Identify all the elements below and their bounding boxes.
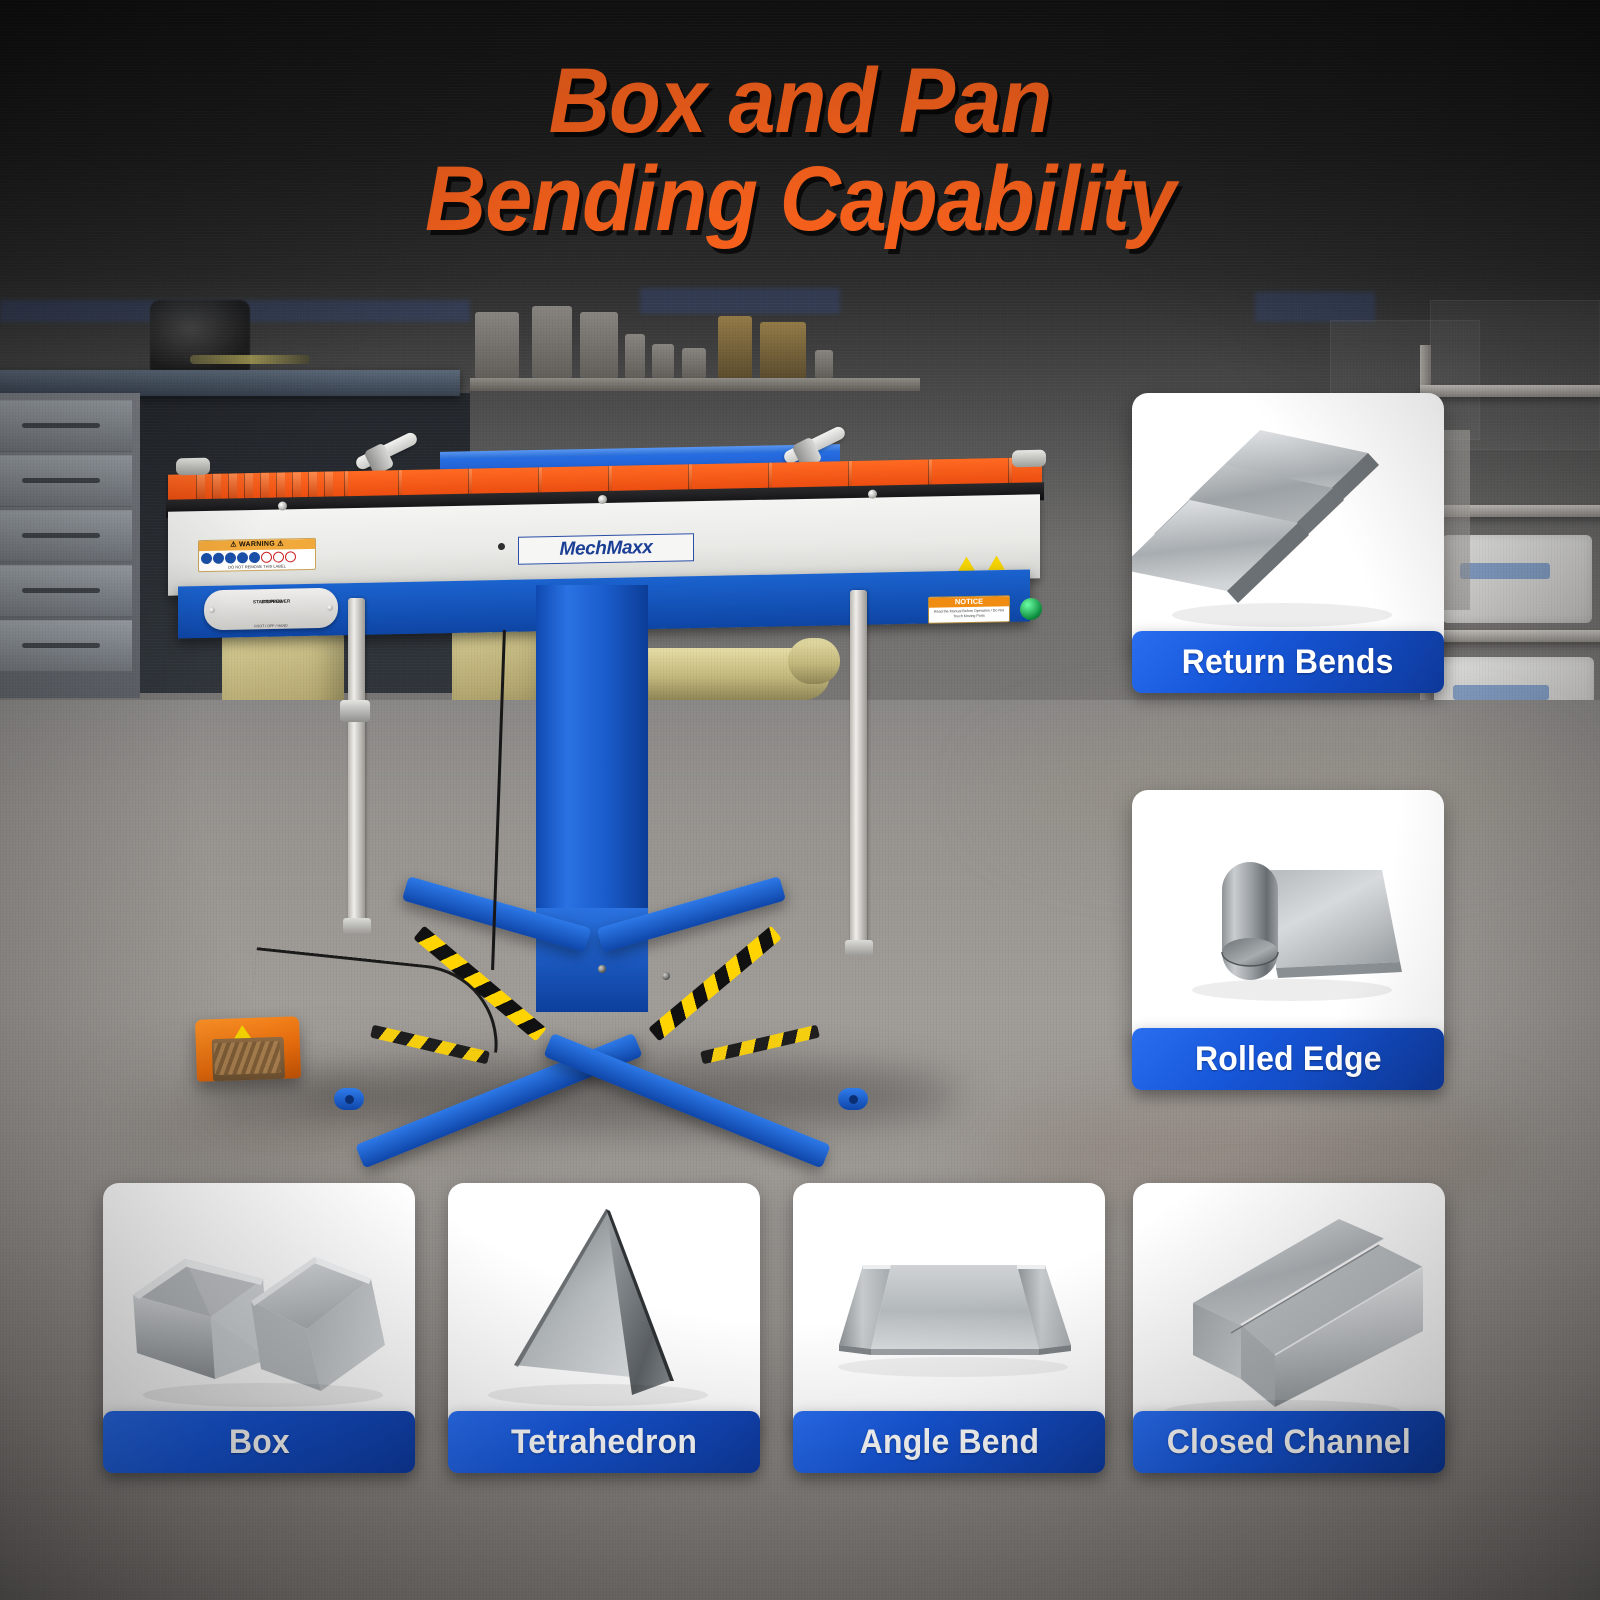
control-panel-footer: FOOT / OFF / HAND (254, 624, 287, 629)
closed-channel-label[interactable]: Closed Channel (1133, 1411, 1445, 1473)
feature-card-closed-channel[interactable]: Closed Channel (1133, 1183, 1445, 1475)
no-entry-icon (261, 551, 272, 562)
warning-icon-row (199, 549, 315, 564)
feature-card-tetrahedron[interactable]: Tetrahedron (448, 1183, 760, 1475)
clamp-knob-right[interactable] (1012, 450, 1046, 468)
return-bends-label[interactable]: Return Bends (1132, 631, 1444, 693)
notice-body: Read the Manual Before Operation / Do No… (929, 606, 1009, 620)
support-leg-right (850, 590, 867, 950)
feature-card-angle-bend[interactable]: Angle Bend (793, 1183, 1105, 1475)
angle-bend-image (793, 1183, 1105, 1433)
metal-box-icon (103, 1183, 415, 1433)
support-leg-foot-left (343, 918, 371, 934)
box-label-text: Box (229, 1423, 290, 1462)
angle-bend-label-text: Angle Bend (859, 1423, 1038, 1462)
pedal-tread-plate[interactable] (214, 1041, 281, 1075)
feature-card-box[interactable]: Box (103, 1183, 415, 1475)
tetrahedron-label-text: Tetrahedron (511, 1423, 697, 1462)
hazard-stripe-right (648, 926, 781, 1042)
rolled-edge-label[interactable]: Rolled Edge (1132, 1028, 1444, 1090)
feature-card-return-bends[interactable]: Return Bends (1132, 393, 1444, 693)
base-anchor-left (334, 1088, 364, 1110)
eye-protection-icon (201, 552, 212, 563)
title-line-1: Box and Pan (64, 52, 1536, 150)
brand-logo-text: MechMaxx (560, 537, 653, 561)
pyramid-icon (448, 1183, 760, 1433)
tetrahedron-label[interactable]: Tetrahedron (448, 1411, 760, 1473)
control-panel[interactable]: START STOP SPEED POWER FOOT / OFF / HAND (204, 588, 338, 631)
base-bolt-left (598, 965, 606, 973)
warning-footer: DO NOT REMOVE THIS LABEL (199, 562, 315, 569)
foot-pedal[interactable] (195, 1016, 301, 1082)
power-switch-label: POWER (273, 599, 290, 604)
rolled-edge-label-text: Rolled Edge (1195, 1040, 1382, 1079)
clamp-knob-left[interactable] (176, 458, 210, 476)
read-manual-icon (225, 552, 236, 563)
closed-channel-image (1133, 1183, 1445, 1433)
rolled-sheet-icon (1132, 790, 1444, 1052)
angle-bend-label[interactable]: Angle Bend (793, 1411, 1105, 1473)
crush-hazard-icon (285, 551, 296, 562)
warning-decal: ⚠ WARNING ⚠ DO NOT REMOVE THIS LABEL (198, 538, 316, 572)
base-anchor-right (838, 1088, 868, 1110)
support-leg-foot-right (845, 940, 873, 956)
notice-decal: NOTICE Read the Manual Before Operation … (928, 595, 1010, 624)
rolled-edge-image (1132, 790, 1444, 1052)
tetrahedron-image (448, 1183, 760, 1433)
return-bends-label-text: Return Bends (1182, 643, 1394, 682)
return-bends-image (1132, 393, 1444, 655)
zigzag-sheet-icon (1132, 393, 1444, 655)
support-leg-left (348, 598, 365, 928)
angle-bend-sheet-icon (793, 1183, 1105, 1433)
base-bolt-right (662, 972, 670, 980)
box-image (103, 1183, 415, 1433)
center-column (536, 585, 648, 930)
page-title: Box and Pan Bending Capability (0, 52, 1600, 248)
leg-adjuster-left[interactable] (340, 700, 370, 722)
hazard-stripe-lower-right (700, 1025, 820, 1065)
closed-channel-icon (1133, 1183, 1445, 1433)
hearing-protection-icon (213, 552, 224, 563)
power-indicator-lamp (1020, 598, 1042, 620)
no-loose-clothing-icon (237, 552, 248, 563)
no-hands-icon (273, 551, 284, 562)
gloves-icon (249, 551, 260, 562)
box-label[interactable]: Box (103, 1411, 415, 1473)
feature-card-rolled-edge[interactable]: Rolled Edge (1132, 790, 1444, 1090)
brand-logo-plate: MechMaxx (518, 533, 694, 565)
closed-channel-label-text: Closed Channel (1167, 1423, 1411, 1462)
title-line-2: Bending Capability (64, 150, 1536, 248)
